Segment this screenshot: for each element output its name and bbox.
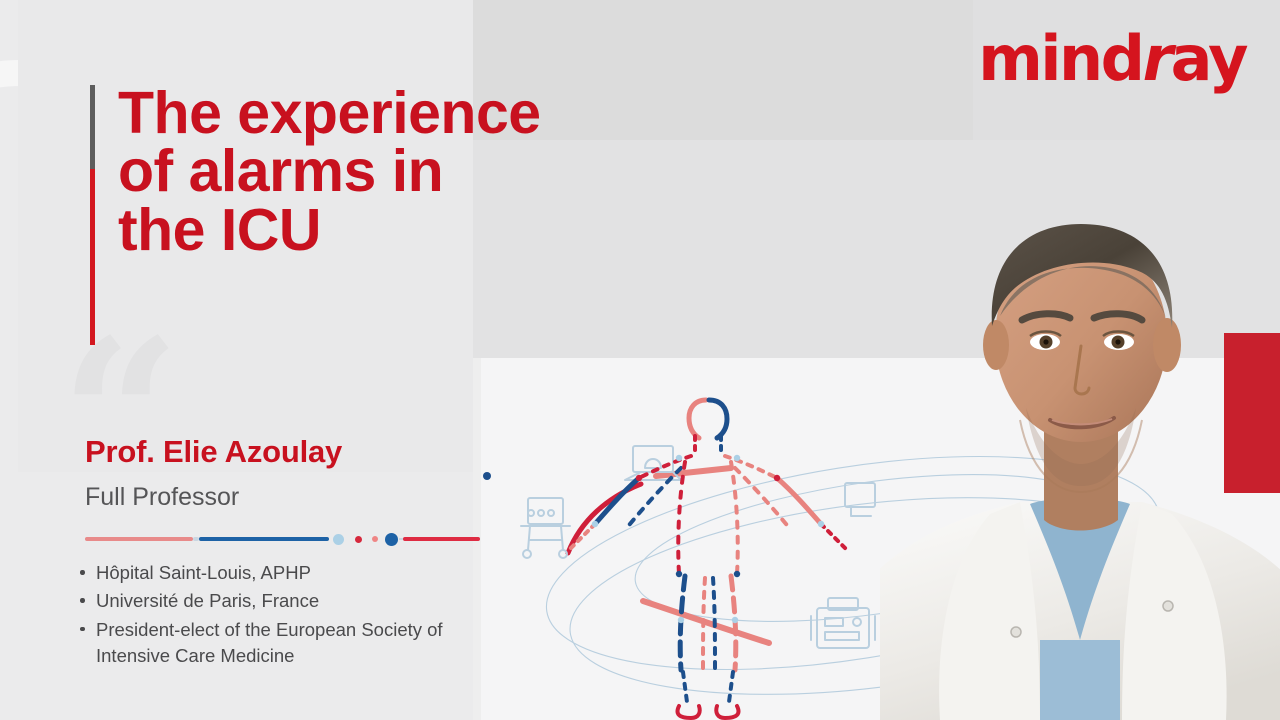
defibrillator-icon <box>811 598 875 648</box>
slide-canvas: “ The experience of alarms in the ICU Pr… <box>0 0 1280 720</box>
title-accent-bar <box>90 85 95 345</box>
portrait-svg <box>880 120 1280 720</box>
affiliation-item: Hôpital Saint-Louis, APHP <box>78 560 478 586</box>
speaker-affiliations: Hôpital Saint-Louis, APHPUniversité de P… <box>78 560 478 671</box>
title-line-2: of alarms in <box>118 142 478 200</box>
monitor-device-icon <box>845 483 875 516</box>
accent-bar-red-segment <box>90 169 95 345</box>
title-line-1: The experience <box>118 84 478 142</box>
speaker-name: Prof. Elie Azoulay <box>85 434 342 470</box>
affiliation-item: President-elect of the European Society … <box>78 617 478 670</box>
medical-cart-icon <box>521 498 570 558</box>
mindray-logo: mindray <box>978 28 1246 90</box>
accent-bar-gray-segment <box>90 85 95 169</box>
affiliation-item: Université de Paris, France <box>78 588 478 614</box>
divider-segment <box>199 537 329 541</box>
divider-segment <box>85 537 193 541</box>
logo-text-part3: ay <box>1171 22 1246 95</box>
speaker-role: Full Professor <box>85 483 239 512</box>
background-panel-top-middle <box>473 0 973 140</box>
divider-dot <box>333 534 344 545</box>
affiliation-list: Hôpital Saint-Louis, APHPUniversité de P… <box>78 560 478 669</box>
logo-text-part2: r <box>1143 22 1171 95</box>
page-title: The experience of alarms in the ICU <box>118 84 478 259</box>
human-body-outline <box>569 400 847 718</box>
divider-dot <box>385 533 398 546</box>
logo-text-part1: mind <box>978 22 1142 95</box>
divider-dot <box>355 536 362 543</box>
divider-tail-segment <box>403 537 480 541</box>
decorative-divider <box>85 533 480 545</box>
divider-dot <box>372 536 378 542</box>
speaker-portrait <box>880 120 1280 720</box>
title-line-3: the ICU <box>118 201 478 259</box>
